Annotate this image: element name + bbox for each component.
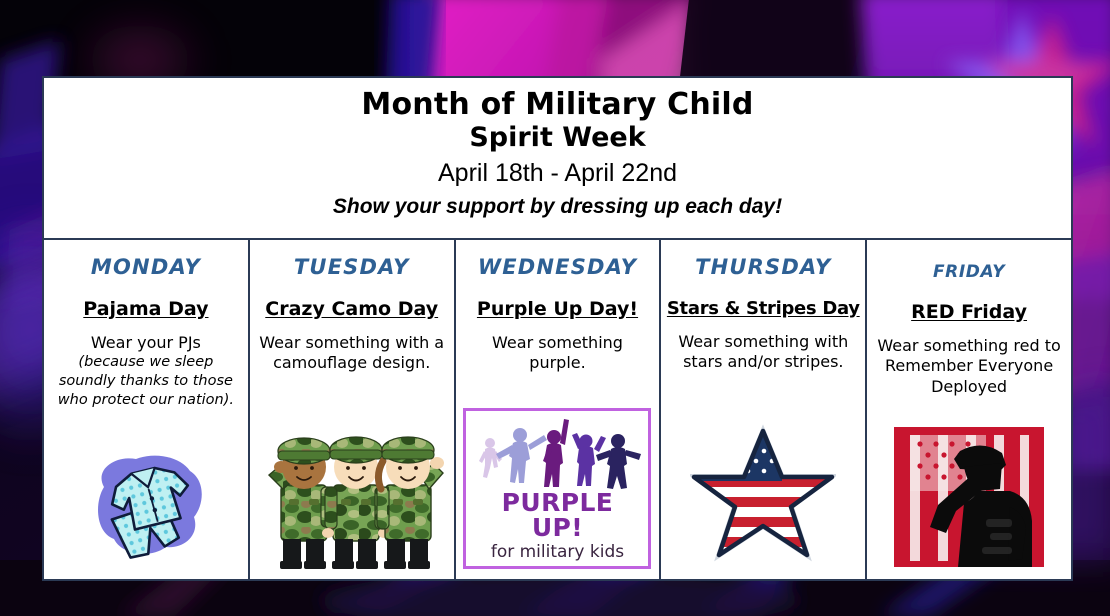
day-name-friday: Friday bbox=[933, 257, 1005, 281]
day-theme-wednesday: Purple Up Day! bbox=[477, 299, 638, 320]
purple-up-tagline: for military kids bbox=[474, 543, 640, 562]
flyer-screenshot: Month of Military Child Spirit Week Apri… bbox=[0, 0, 1110, 616]
flyer-header: Month of Military Child Spirit Week Apri… bbox=[44, 78, 1071, 240]
day-description-wednesday: Wear something purple. bbox=[463, 333, 653, 374]
camo-soldiers-clipart bbox=[257, 423, 447, 575]
purple-up-figures-icon bbox=[474, 417, 644, 489]
day-name-monday: MONDAY bbox=[91, 257, 201, 278]
day-theme-monday: Pajama Day bbox=[83, 299, 208, 320]
day-description-note-monday: (because we sleep soundly thanks to thos… bbox=[51, 353, 241, 410]
pajamas-clipart bbox=[51, 443, 241, 575]
day-description-monday: Wear your PJs (because we sleep soundly … bbox=[51, 333, 241, 410]
purple-up-logo: PURPLE UP! for military kids bbox=[463, 408, 653, 569]
day-theme-friday: RED Friday bbox=[911, 302, 1027, 323]
day-description-tuesday: Wear something with a camouflage design. bbox=[257, 333, 447, 374]
day-description-thursday: Wear something with stars and/or stripes… bbox=[668, 332, 858, 373]
flyer-date-range: April 18th - April 22nd bbox=[50, 158, 1065, 188]
day-column-friday: Friday RED Friday Wear something red to … bbox=[867, 240, 1071, 579]
red-friday-salute-clipart bbox=[874, 427, 1064, 567]
day-columns: MONDAY Pajama Day Wear your PJs (because… bbox=[44, 240, 1071, 579]
flyer-title-line-1: Month of Military Child bbox=[50, 88, 1065, 122]
day-description-text-monday: Wear your PJs bbox=[91, 333, 201, 352]
purple-up-headline: PURPLE UP! bbox=[474, 490, 640, 540]
day-column-tuesday: TUESDAY Crazy Camo Day Wear something wi… bbox=[250, 240, 456, 579]
day-name-tuesday: TUESDAY bbox=[294, 257, 410, 278]
day-column-monday: MONDAY Pajama Day Wear your PJs (because… bbox=[44, 240, 250, 579]
day-column-thursday: THURSDAY Stars & Stripes Day Wear someth… bbox=[661, 240, 867, 579]
day-description-friday: Wear something red to Remember Everyone … bbox=[874, 336, 1064, 397]
flyer-title-line-2: Spirit Week bbox=[50, 123, 1065, 153]
day-name-thursday: THURSDAY bbox=[695, 257, 831, 278]
day-theme-tuesday: Crazy Camo Day bbox=[265, 299, 438, 320]
flag-star-clipart bbox=[668, 423, 858, 565]
day-theme-thursday: Stars & Stripes Day bbox=[667, 299, 860, 319]
flyer-subtitle: Show your support by dressing up each da… bbox=[50, 194, 1065, 219]
day-name-wednesday: WEDNESDAY bbox=[478, 257, 637, 278]
day-column-wednesday: WEDNESDAY Purple Up Day! Wear something … bbox=[456, 240, 662, 579]
spirit-week-flyer: Month of Military Child Spirit Week Apri… bbox=[42, 76, 1073, 581]
